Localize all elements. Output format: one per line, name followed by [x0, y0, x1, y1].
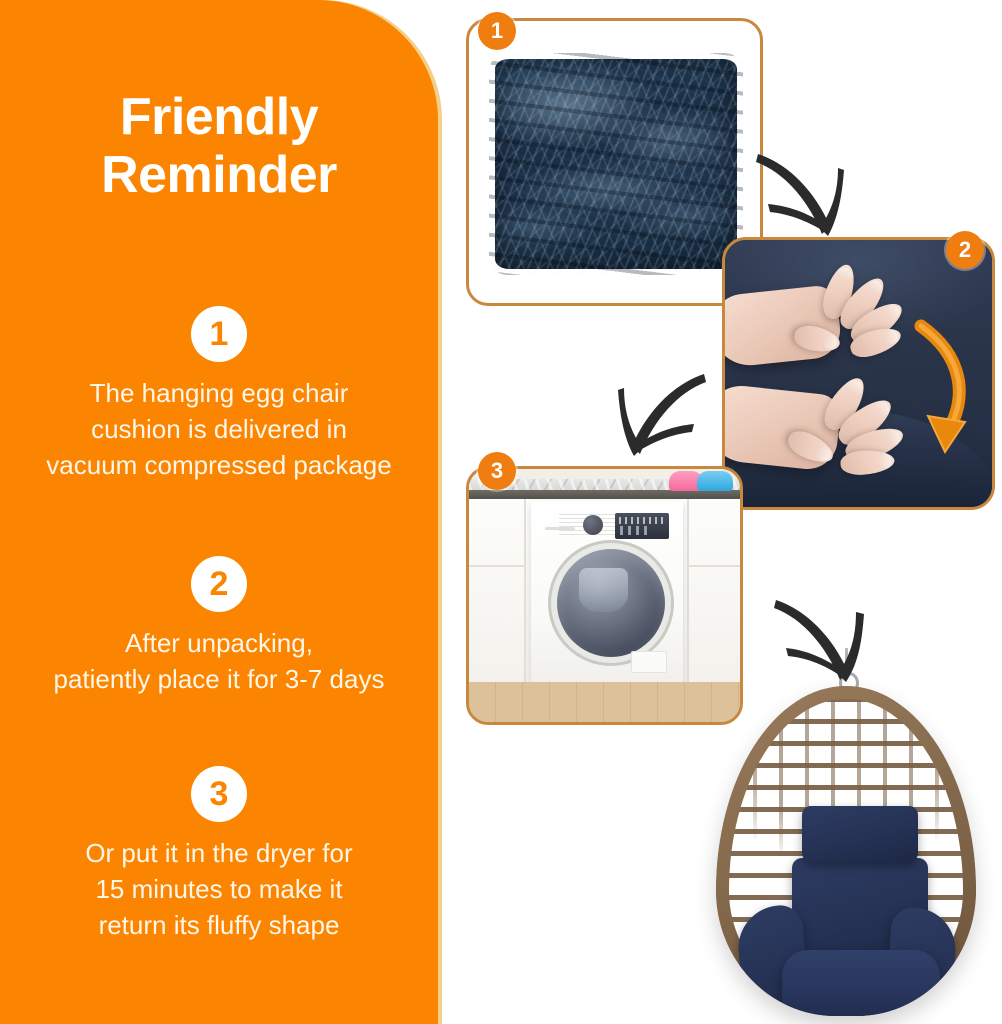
arrow-step2-to-step3-icon	[598, 368, 710, 463]
step-1-line-2: cushion is delivered in	[18, 412, 420, 448]
step-number-badge-1: 1	[191, 306, 247, 362]
title-line-2: Reminder	[0, 146, 438, 204]
step-1-line-1: The hanging egg chair	[18, 376, 420, 412]
step-3-line-3: return its fluffy shape	[18, 908, 420, 944]
step-description-3: Or put it in the dryer for 15 minutes to…	[0, 836, 438, 944]
step-description-2: After unpacking, patiently place it for …	[0, 626, 438, 698]
step-2-line-1: After unpacking,	[18, 626, 420, 662]
rattan-chair-shell	[716, 686, 976, 1016]
photo-panel-hands-patting-cushion	[722, 237, 995, 510]
step-number-badge-2: 2	[191, 556, 247, 612]
wood-floor	[469, 682, 740, 722]
hanging-egg-chair-image	[702, 648, 990, 1024]
page-title: Friendly Reminder	[0, 88, 438, 204]
laundry-room-scene	[469, 469, 740, 722]
cabinet-seam-h-right	[689, 565, 740, 567]
step-item-3: 3 Or put it in the dryer for 15 minutes …	[0, 766, 438, 944]
navy-head-pillow	[802, 806, 918, 862]
step-description-1: The hanging egg chair cushion is deliver…	[0, 376, 438, 484]
photo-badge-1: 1	[478, 12, 516, 50]
photo-panel-compressed-cushion	[466, 18, 763, 306]
machine-door	[557, 549, 665, 657]
arrow-step1-to-step2-icon	[752, 148, 864, 243]
orange-curved-arrow-icon	[725, 240, 995, 510]
arrow-step3-to-result-icon	[768, 596, 886, 688]
step-3-line-1: Or put it in the dryer for	[18, 836, 420, 872]
front-load-washer-dryer	[531, 501, 683, 687]
step-2-line-2: patiently place it for 3-7 days	[18, 662, 420, 698]
machine-display-panel	[615, 513, 669, 539]
cabinet-seam-h-left	[469, 565, 524, 567]
program-knob-icon	[583, 515, 603, 535]
infographic-canvas: Friendly Reminder 1 The hanging egg chai…	[0, 0, 1002, 1024]
photo-badge-3: 3	[478, 452, 516, 490]
title-line-1: Friendly	[0, 88, 438, 146]
cabinet-seam-left	[524, 497, 526, 693]
step-1-line-3: vacuum compressed package	[18, 448, 420, 484]
step-3-line-2: 15 minutes to make it	[18, 872, 420, 908]
step-item-2: 2 After unpacking, patiently place it fo…	[0, 556, 438, 698]
machine-filter-drawer	[631, 651, 667, 673]
photo-badge-2: 2	[946, 231, 984, 269]
step-item-1: 1 The hanging egg chair cushion is deliv…	[0, 306, 438, 484]
step-number-badge-3: 3	[191, 766, 247, 822]
cabinet-seam-right	[687, 497, 689, 693]
vacuum-compressed-cushion-image	[495, 59, 737, 269]
navy-seat-cushion	[782, 950, 940, 1016]
